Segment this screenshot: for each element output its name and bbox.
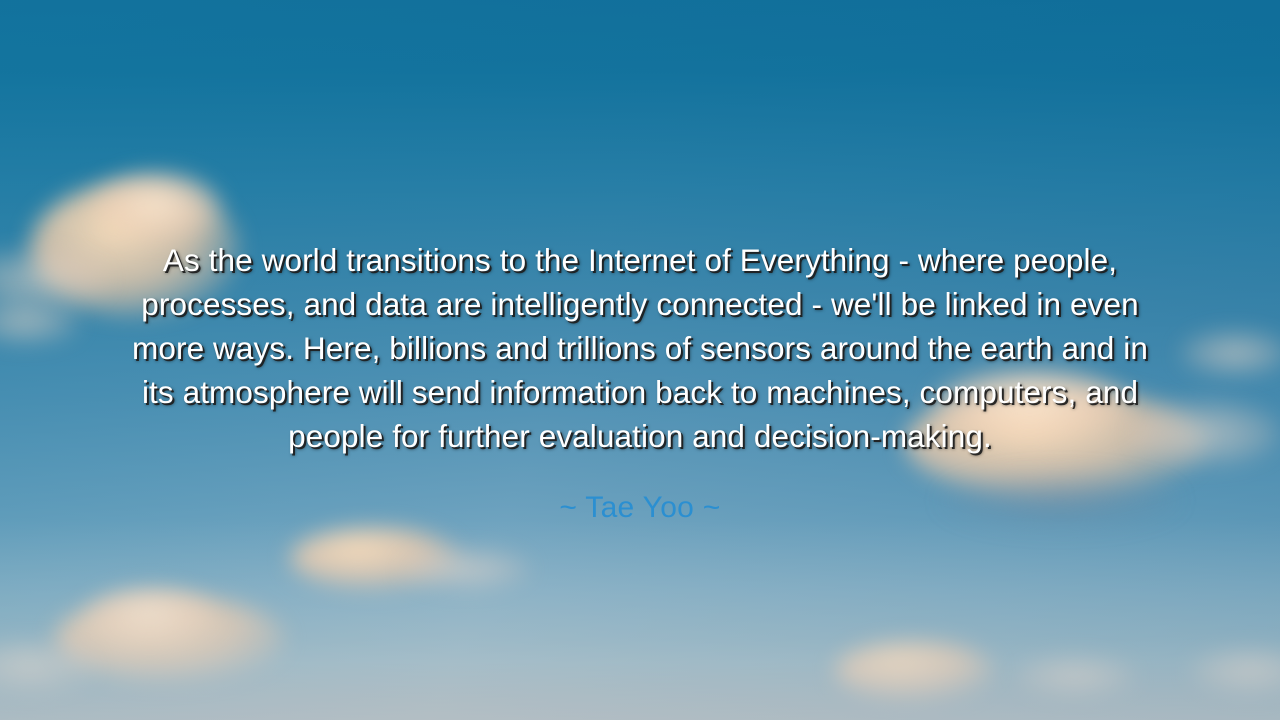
- quote-author: ~ Tae Yoo ~: [559, 488, 720, 528]
- quote-text: As the world transitions to the Internet…: [56, 238, 1224, 458]
- quote-card: As the world transitions to the Internet…: [0, 0, 1280, 720]
- quote-content: As the world transitions to the Internet…: [0, 0, 1280, 720]
